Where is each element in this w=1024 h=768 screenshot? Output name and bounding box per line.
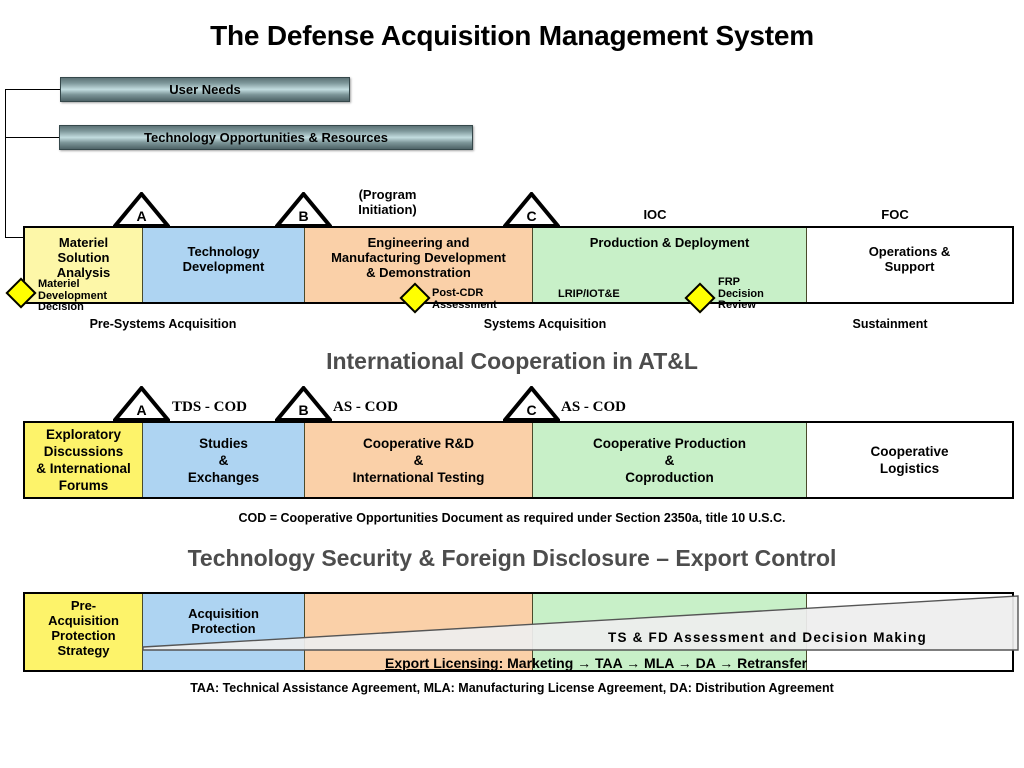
intl-p2-line3: Exchanges [143,469,304,486]
tier-pre-systems-acquisition: Pre-Systems Acquisition [23,317,303,331]
tsfd-p1-line1: Pre- [25,598,142,613]
cdr-line2: Assessment [432,300,522,312]
intl-p3-line2: & [305,452,532,469]
intl-phase-cooperative-rd[interactable]: Cooperative R&D & International Testing [305,423,533,497]
intl-p1-line2: Discussions [25,443,142,460]
intl-phase-cooperative-logistics[interactable]: Cooperative Logistics [807,423,1012,497]
export-licensing-flow: : Marketing → TAA → MLA → DA → Retransfe… [499,655,808,671]
tier-systems-acquisition: Systems Acquisition [405,317,685,331]
banner-technology-opportunities[interactable]: Technology Opportunities & Resources [59,125,473,150]
tier-sustainment: Sustainment [770,317,1010,331]
phase5-line2: Support [807,259,1012,274]
international-phase-bar: Exploratory Discussions & International … [23,421,1014,499]
tsfd-phase-pre-acquisition-protection-strategy[interactable]: Pre- Acquisition Protection Strategy [25,594,143,670]
program-initiation-line1: (Program [320,187,455,202]
intl-phase-studies-exchanges[interactable]: Studies & Exchanges [143,423,305,497]
phase4-line1: Production & Deployment [533,235,806,250]
milestone-b-row1-letter: B [275,208,332,224]
banner-user-needs-label: User Needs [169,82,241,97]
intl-p1-line3: & International [25,460,142,477]
intl-p3-line3: International Testing [305,469,532,486]
milestone-b-row2-letter: B [275,402,332,418]
lrip-iote-label: LRIP/IOT&E [558,289,678,301]
milestone-a-row2-note: TDS - COD [172,399,247,416]
bracket-vertical [5,89,6,237]
intl-p1-line4: Forums [25,477,142,494]
mdd-line1: Materiel [38,279,130,291]
intl-phase-exploratory-discussions[interactable]: Exploratory Discussions & International … [25,423,143,497]
tsfd-p1-line4: Strategy [25,643,142,658]
intl-p4-line3: Coproduction [533,469,806,486]
milestone-c-row2-note: AS - COD [561,399,626,416]
milestone-c-row2-letter: C [503,402,560,418]
footnote-cod: COD = Cooperative Opportunities Document… [0,511,1024,525]
intl-p3-line1: Cooperative R&D [305,435,532,452]
phase3-line3: & Demonstration [305,265,532,280]
intl-p2-line1: Studies [143,435,304,452]
milestone-b-row2[interactable]: B [275,386,332,422]
materiel-development-decision-label: Materiel Development Decision [38,279,130,314]
bracket-stub-bottom [5,237,25,238]
export-licensing-row: Export Licensing: Marketing → TAA → MLA … [385,655,807,671]
post-cdr-assessment-label: Post-CDR Assessment [432,288,522,311]
mdd-line3: Decision [38,302,130,314]
phase3-line2: Manufacturing Development [305,250,532,265]
milestone-a-row2[interactable]: A [113,386,170,422]
milestone-a-row2-letter: A [113,402,170,418]
intl-p4-line1: Cooperative Production [533,435,806,452]
phase5-line1: Operations & [807,244,1012,259]
milestone-c-row2[interactable]: C [503,386,560,422]
banner-user-needs[interactable]: User Needs [60,77,350,102]
phase1-line2: Solution [25,250,142,265]
phase2-line1: Technology [143,244,304,259]
tsfd-p1-line2: Acquisition [25,613,142,628]
phase-technology-development[interactable]: Technology Development [143,228,305,302]
cdr-line1: Post-CDR [432,288,522,300]
ioc-label: IOC [605,207,705,222]
frp-decision-review-label: FRP Decision Review [718,277,798,312]
program-initiation-line2: Initiation) [320,202,455,217]
milestone-b-row1[interactable]: B [275,192,332,228]
section-title-international: International Cooperation in AT&L [0,348,1024,375]
export-licensing-label: Export Licensing [385,655,499,671]
section-title-tsfd: Technology Security & Foreign Disclosure… [0,545,1024,572]
diagram-canvas: The Defense Acquisition Management Syste… [0,0,1024,768]
intl-phase-cooperative-production[interactable]: Cooperative Production & Coproduction [533,423,807,497]
phase-operations-support[interactable]: Operations & Support [807,228,1012,302]
milestone-b-row2-note: AS - COD [333,399,398,416]
phase2-line2: Development [143,259,304,274]
milestone-a-row1[interactable]: A [113,192,170,228]
banner-technology-opportunities-label: Technology Opportunities & Resources [144,130,388,145]
intl-p4-line2: & [533,452,806,469]
page-title: The Defense Acquisition Management Syste… [0,20,1024,52]
tsfd-wedge-label: TS & FD Assessment and Decision Making [608,630,927,645]
frp-line1: FRP [718,277,798,289]
frp-line3: Review [718,300,798,312]
bracket-stub-tech-opps [5,137,61,138]
phase3-line1: Engineering and [305,235,532,250]
tsfd-p2-line1: Acquisition [143,606,304,621]
intl-p2-line2: & [143,452,304,469]
tsfd-p1-line3: Protection [25,628,142,643]
program-initiation-note: (Program Initiation) [320,187,455,217]
phase1-line1: Materiel [25,235,142,250]
intl-p5-line1: Cooperative [807,443,1012,460]
bracket-stub-user-needs [5,89,61,90]
milestone-c-row1-letter: C [503,208,560,224]
milestone-c-row1[interactable]: C [503,192,560,228]
foc-label: FOC [845,207,945,222]
intl-p1-line1: Exploratory [25,426,142,443]
footnote-taa: TAA: Technical Assistance Agreement, MLA… [0,681,1024,695]
intl-p5-line2: Logistics [807,460,1012,477]
milestone-a-row1-letter: A [113,208,170,224]
tsfd-phase-acquisition-protection[interactable]: Acquisition Protection [143,594,305,670]
tsfd-p2-line2: Protection [143,621,304,636]
